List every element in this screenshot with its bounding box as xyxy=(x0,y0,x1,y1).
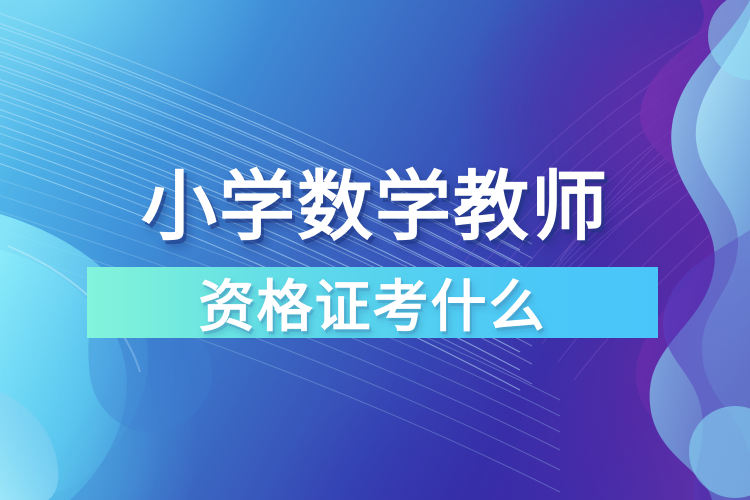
promo-banner: 小学数学教师 资格证考什么 xyxy=(0,0,750,500)
banner-content: 小学数学教师 资格证考什么 xyxy=(0,0,750,500)
banner-subheadline: 资格证考什么 xyxy=(87,267,658,338)
banner-headline: 小学数学教师 xyxy=(0,160,750,256)
